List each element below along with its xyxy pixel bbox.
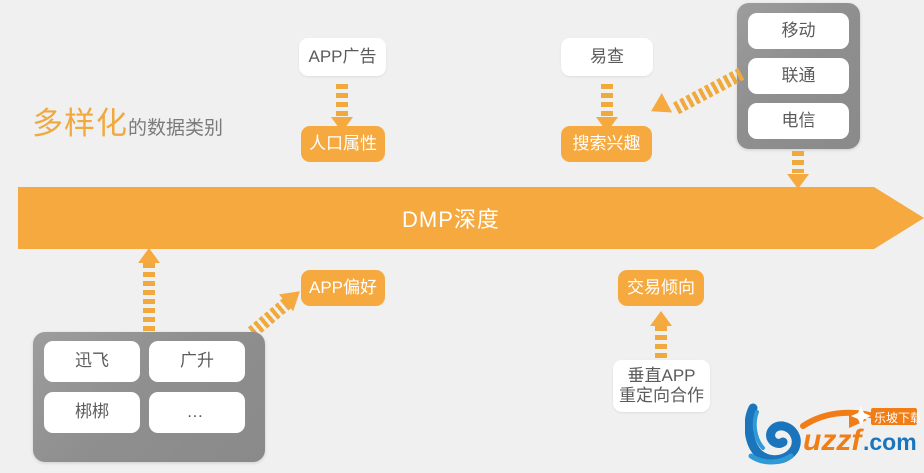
arrow-carriers-to-search-interest <box>650 78 745 138</box>
arrow-shaft <box>143 263 155 333</box>
arrow-app-partners-to-dmp <box>134 248 164 333</box>
carrier-item-telecom[interactable]: 电信 <box>748 103 849 139</box>
group-app-partners: 迅飞 广升 梆梆 … <box>33 332 265 462</box>
app-partner-item-guangsheng[interactable]: 广升 <box>149 341 245 382</box>
arrow-head <box>787 174 809 189</box>
arrow-shaft <box>792 151 804 173</box>
arrow-vertical-app-to-transaction-intent <box>646 311 676 361</box>
app-partner-item-bangbang[interactable]: 梆梆 <box>44 392 140 433</box>
watermark-svg: uzzf .com 乐坡下载 <box>745 398 920 468</box>
arrow-carriers-to-dmp <box>783 151 813 189</box>
page-title: 多样化 的数据类别 <box>32 98 223 143</box>
app-partner-item-xunfei[interactable]: 迅飞 <box>44 341 140 382</box>
dmp-depth-band: DMP深度 <box>18 187 924 249</box>
watermark-logo: uzzf .com 乐坡下载 <box>745 398 920 468</box>
arrow-shaft <box>336 84 348 118</box>
arrow-head <box>138 248 160 263</box>
dmp-depth-label: DMP深度 <box>402 202 500 234</box>
watermark-domain-text: .com <box>863 429 917 455</box>
watermark-brand-text: uzzf <box>803 424 864 457</box>
arrow-app-ad-to-demographic <box>327 84 357 132</box>
arrow-shaft <box>601 84 613 118</box>
arrow-yicha-to-search-interest <box>592 84 622 132</box>
source-box-vertical-app-line2: 重定向合作 <box>619 386 704 406</box>
page-title-accent: 多样化 <box>32 98 128 143</box>
arrow-shaft <box>655 326 667 361</box>
source-box-yicha[interactable]: 易查 <box>561 38 653 76</box>
category-box-demographic[interactable]: 人口属性 <box>301 126 385 162</box>
source-box-app-ad[interactable]: APP广告 <box>299 38 386 76</box>
swirl-icon <box>749 408 796 462</box>
source-box-vertical-app-line1: 垂直APP <box>627 366 695 386</box>
arrow-shaft <box>673 68 744 114</box>
arrow-head <box>646 93 672 121</box>
category-box-transaction-intent[interactable]: 交易倾向 <box>618 270 704 306</box>
category-box-search-interest[interactable]: 搜索兴趣 <box>561 126 652 162</box>
carrier-item-unicom[interactable]: 联通 <box>748 58 849 94</box>
app-partner-item-more[interactable]: … <box>149 392 245 433</box>
watermark-tagline-text: 乐坡下载 <box>874 411 920 425</box>
diagram-canvas: 多样化 的数据类别 APP广告 人口属性 易查 搜索兴趣 移动 联通 电信 DM… <box>0 0 924 473</box>
arrow-head <box>650 311 672 326</box>
group-carriers: 移动 联通 电信 <box>737 3 860 149</box>
carrier-item-mobile[interactable]: 移动 <box>748 13 849 49</box>
source-box-vertical-app[interactable]: 垂直APP 重定向合作 <box>613 360 710 412</box>
page-title-rest: 的数据类别 <box>128 113 223 140</box>
